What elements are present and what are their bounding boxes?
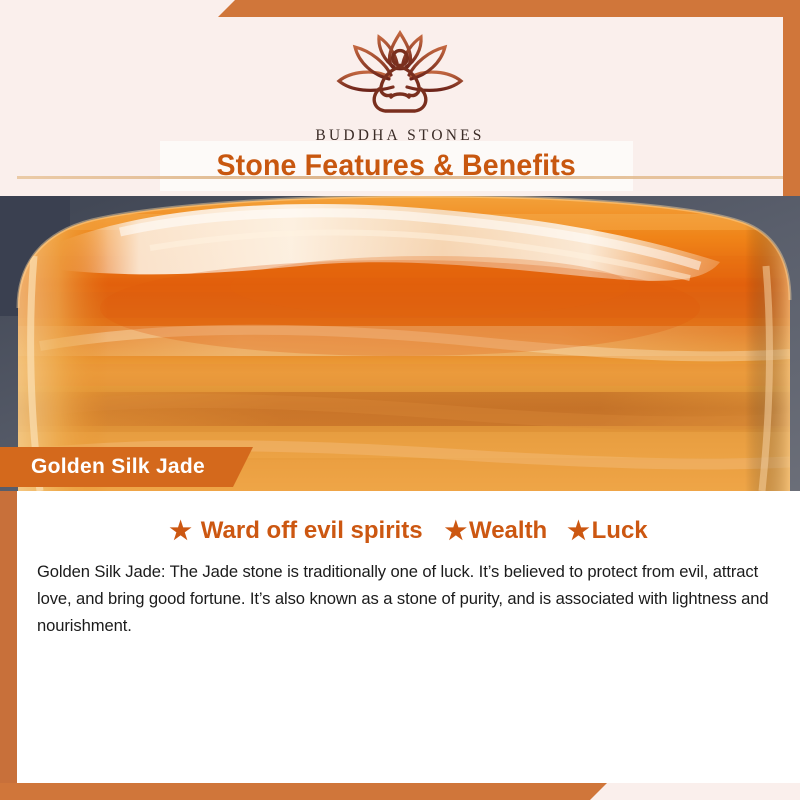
stone-name-label: Golden Silk Jade	[0, 455, 205, 479]
star-icon: ★	[445, 519, 467, 544]
header: BUDDHA STONES Stone Features & Benefits	[17, 17, 783, 196]
brand-logo: BUDDHA STONES	[17, 27, 783, 145]
benefit-label-3: Luck	[592, 517, 648, 545]
benefit-item-3: ★ Luck	[567, 517, 647, 545]
benefits-list: ★ Ward off evil spirits ★ Wealth ★ Luck	[17, 517, 800, 545]
lotus-meditation-logo-icon	[315, 27, 485, 124]
frame-top-bar	[218, 0, 800, 17]
benefit-item-1: ★ Ward off evil spirits	[169, 517, 422, 545]
benefit-item-2: ★ Wealth	[445, 517, 548, 545]
benefit-label-1: Ward off evil spirits	[201, 517, 423, 545]
stone-name-banner: Golden Silk Jade	[0, 447, 253, 487]
stone-photo	[0, 196, 800, 491]
frame-right-bar	[783, 0, 800, 200]
stone-description: Golden Silk Jade: The Jade stone is trad…	[37, 559, 778, 640]
title-underline	[17, 176, 783, 179]
star-icon: ★	[567, 519, 589, 544]
star-icon: ★	[169, 519, 191, 544]
frame-bottom-bar	[0, 783, 607, 800]
section-title-box: Stone Features & Benefits	[160, 141, 633, 191]
benefit-label-2: Wealth	[469, 517, 547, 545]
promo-card: BUDDHA STONES Stone Features & Benefits	[0, 0, 800, 800]
content-panel: ★ Ward off evil spirits ★ Wealth ★ Luck …	[17, 491, 800, 783]
